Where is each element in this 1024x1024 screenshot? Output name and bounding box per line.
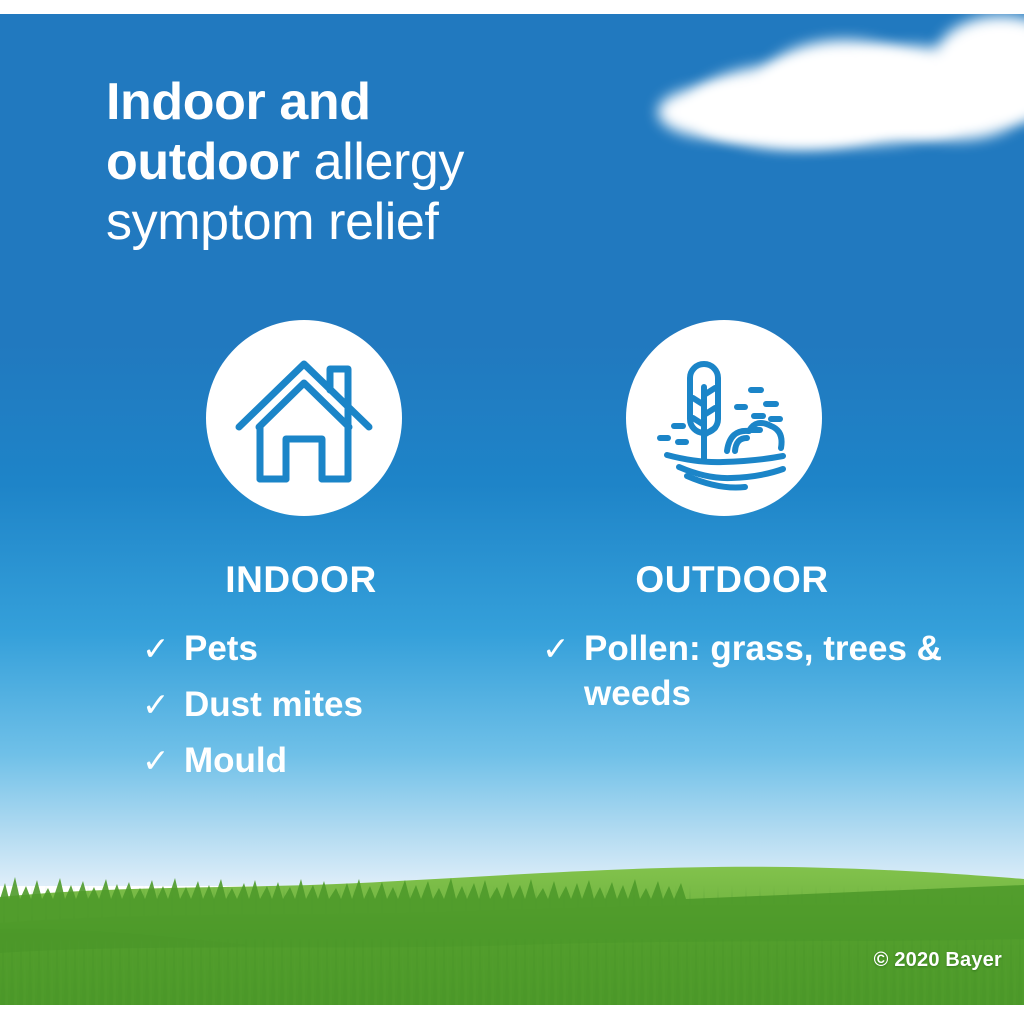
copyright-text: © 2020 Bayer bbox=[874, 949, 1002, 972]
headline-bold-1: Indoor and bbox=[106, 73, 371, 131]
headline-line-2: outdoor allergy bbox=[106, 132, 746, 192]
list-item-label: Dust mites bbox=[184, 682, 500, 727]
check-icon: ✓ bbox=[142, 738, 184, 783]
headline-light-3: symptom relief bbox=[106, 193, 438, 251]
headline-light-2: allergy bbox=[300, 133, 464, 191]
grass-illustration bbox=[0, 845, 1024, 1005]
outdoor-section-label: OUTDOOR bbox=[522, 559, 942, 601]
outdoor-icon-circle bbox=[626, 320, 822, 516]
check-icon: ✓ bbox=[142, 626, 184, 671]
column-outdoor: OUTDOOR ✓ Pollen: grass, trees & weeds bbox=[530, 320, 970, 727]
house-icon bbox=[229, 343, 379, 493]
indoor-bullet-list: ✓ Pets ✓ Dust mites ✓ Mould bbox=[142, 626, 500, 783]
headline-line-3: symptom relief bbox=[106, 192, 746, 252]
list-item: ✓ Pollen: grass, trees & weeds bbox=[542, 626, 962, 716]
poster-root: INDOOR ✓ Pets ✓ Dust mites ✓ Mould bbox=[0, 0, 1024, 1024]
indoor-icon-circle bbox=[206, 320, 402, 516]
list-item-label: Mould bbox=[184, 738, 500, 783]
list-item: ✓ Mould bbox=[142, 738, 500, 783]
check-icon: ✓ bbox=[542, 626, 584, 671]
headline-bold-2: outdoor bbox=[106, 133, 300, 191]
list-item-label: Pets bbox=[184, 626, 500, 671]
indoor-section-label: INDOOR bbox=[106, 559, 496, 601]
list-item: ✓ Pets bbox=[142, 626, 500, 671]
headline-line-1: Indoor and bbox=[106, 72, 746, 132]
page-title: Indoor and outdoor allergy symptom relie… bbox=[106, 72, 746, 252]
list-item: ✓ Dust mites bbox=[142, 682, 500, 727]
outdoor-bullet-list: ✓ Pollen: grass, trees & weeds bbox=[542, 626, 962, 716]
check-icon: ✓ bbox=[142, 682, 184, 727]
list-item-label: Pollen: grass, trees & weeds bbox=[584, 626, 962, 716]
grass-field bbox=[0, 845, 1024, 1005]
column-indoor: INDOOR ✓ Pets ✓ Dust mites ✓ Mould bbox=[110, 320, 500, 794]
plant-outdoor-icon bbox=[649, 343, 799, 493]
